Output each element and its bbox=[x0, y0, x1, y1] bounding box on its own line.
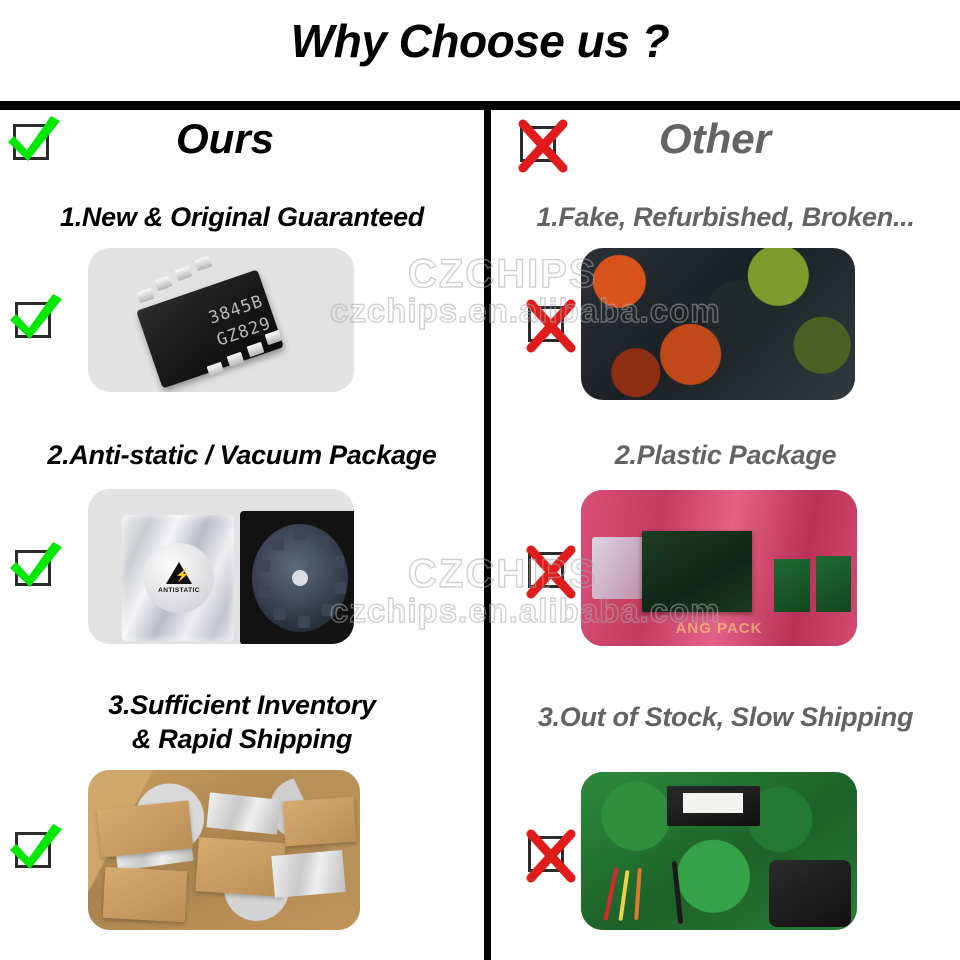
row-1-caption-other: 1.Fake, Refurbished, Broken... bbox=[491, 200, 960, 234]
check-mark-glyph bbox=[6, 286, 70, 346]
cross-icon-row-3 bbox=[523, 830, 567, 874]
check-mark-glyph bbox=[6, 534, 70, 594]
column-divider-line bbox=[484, 105, 491, 960]
row-3-caption-ours-line2: & Rapid Shipping bbox=[0, 722, 484, 756]
esd-warning-icon: ⚡ bbox=[166, 562, 192, 584]
row-1-image-other bbox=[581, 248, 855, 400]
row-3-image-other bbox=[581, 772, 857, 930]
cross-icon-row-2 bbox=[523, 546, 567, 590]
row-1-caption-ours: 1.New & Original Guaranteed bbox=[0, 200, 484, 234]
component-reel bbox=[252, 524, 348, 632]
row-1-cell-ours: 1.New & Original Guaranteed 3845B GZ829 bbox=[0, 196, 484, 431]
row-2-image-other: ANG PACK bbox=[581, 490, 857, 646]
check-icon-row-3 bbox=[10, 826, 54, 870]
cross-mark-glyph bbox=[521, 826, 583, 888]
row-3-caption-other: 3.Out of Stock, Slow Shipping bbox=[491, 700, 960, 734]
page-title: Why Choose us ? bbox=[0, 14, 960, 68]
check-mark-glyph bbox=[4, 108, 68, 168]
check-icon-header-ours bbox=[8, 118, 52, 162]
cross-mark-glyph bbox=[521, 542, 583, 604]
component-reel-box bbox=[240, 511, 354, 644]
check-icon-row-1 bbox=[10, 296, 54, 340]
antistatic-disc: ⚡ ANTISTATIC bbox=[144, 543, 214, 613]
column-title-other: Other bbox=[659, 110, 771, 168]
row-1-image-ours: 3845B GZ829 bbox=[88, 248, 354, 392]
cross-mark-glyph bbox=[513, 116, 575, 178]
cross-mark-glyph bbox=[521, 296, 583, 358]
column-header-other: Other bbox=[491, 108, 960, 170]
column-title-ours: Ours bbox=[176, 110, 274, 168]
row-3-cell-other: 3.Out of Stock, Slow Shipping bbox=[491, 684, 960, 954]
row-2-caption-other: 2.Plastic Package bbox=[491, 438, 960, 472]
row-3-image-ours bbox=[88, 770, 360, 930]
antistatic-label: ANTISTATIC bbox=[158, 587, 200, 594]
row-2-cell-ours: 2.Anti-static / Vacuum Package ⚡ ANTISTA… bbox=[0, 434, 484, 674]
row-1-cell-other: 1.Fake, Refurbished, Broken... bbox=[491, 196, 960, 431]
row-3-caption-ours-line1: 3.Sufficient Inventory bbox=[0, 688, 484, 722]
check-mark-glyph bbox=[6, 816, 70, 876]
row-2-image-ours: ⚡ ANTISTATIC bbox=[88, 489, 354, 644]
cross-icon-row-1 bbox=[523, 300, 567, 344]
column-header-ours: Ours bbox=[0, 108, 484, 170]
pack-watermark-text: ANG PACK bbox=[581, 620, 857, 637]
cross-icon-header-other bbox=[515, 120, 559, 164]
row-2-caption-ours: 2.Anti-static / Vacuum Package bbox=[0, 438, 484, 472]
why-choose-us-infographic: Why Choose us ? Ours Other 1.New & Origi… bbox=[0, 0, 960, 960]
row-2-cell-other: 2.Plastic Package ANG PACK bbox=[491, 434, 960, 674]
row-3-cell-ours: 3.Sufficient Inventory & Rapid Shipping bbox=[0, 684, 484, 954]
check-icon-row-2 bbox=[10, 544, 54, 588]
